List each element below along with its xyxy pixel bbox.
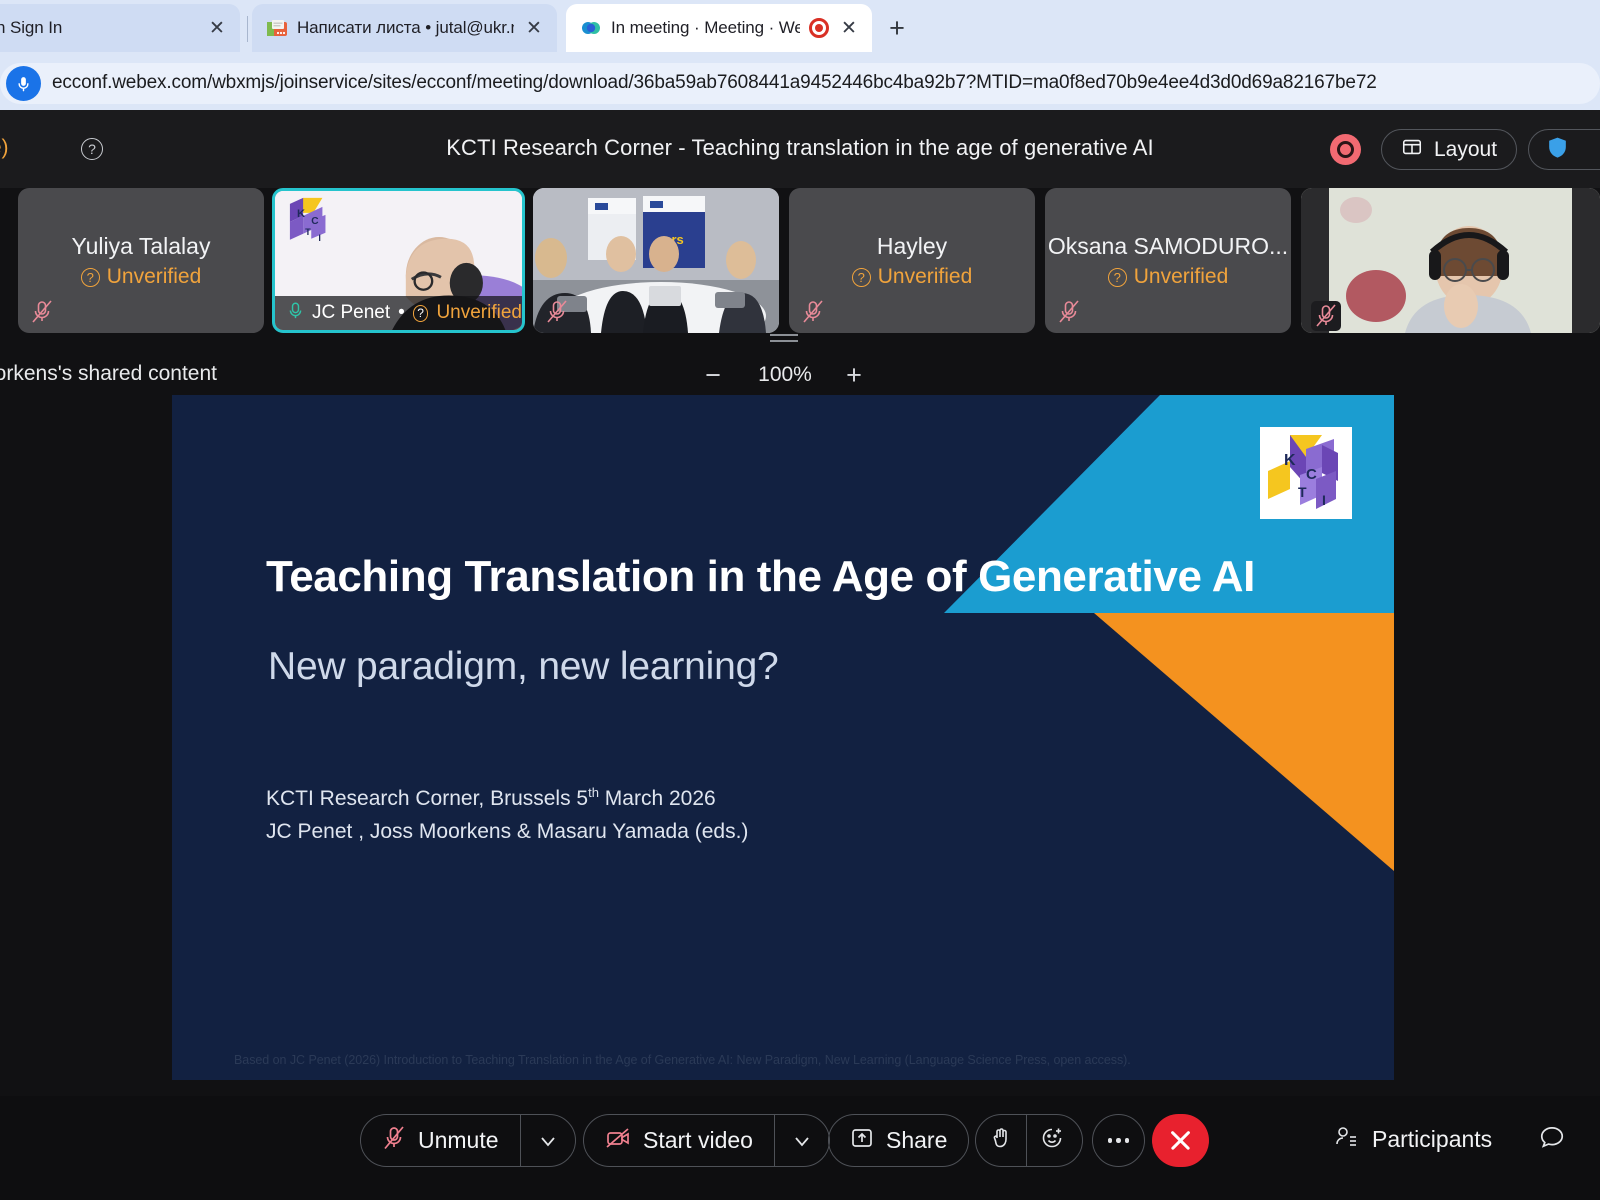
browser-tabstrip: earson Sign In ✕ xyxy=(0,0,1600,56)
status-badge-unverified: ? Unverified xyxy=(1045,265,1291,289)
unverified-label: Unverified xyxy=(878,265,973,289)
microphone-icon[interactable] xyxy=(6,66,41,101)
video-stream: eers xyxy=(533,188,779,333)
leave-meeting-icon xyxy=(1168,1128,1193,1153)
video-tile-hayley[interactable]: Hayley ? Unverified xyxy=(789,188,1035,333)
raise-hand-icon xyxy=(989,1126,1013,1156)
close-icon[interactable]: ✕ xyxy=(838,17,860,39)
browser-tab-webex[interactable]: In meeting · Meeting · Web ✕ xyxy=(566,4,872,52)
overlay-separator: • xyxy=(398,302,405,324)
camera-muted-icon xyxy=(605,1126,631,1156)
address-bar[interactable]: ecconf.webex.com/wbxmjs/joinservice/site… xyxy=(0,63,1600,104)
share-button[interactable]: Share xyxy=(829,1115,968,1166)
svg-text:T: T xyxy=(305,227,311,237)
webex-favicon xyxy=(580,17,602,39)
start-video-button-label: Start video xyxy=(643,1127,753,1154)
recording-indicator-icon[interactable] xyxy=(1330,134,1361,165)
status-badge-unverified: ? Unverified xyxy=(18,265,264,289)
chevron-down-icon xyxy=(790,1129,814,1153)
layout-grid-icon xyxy=(1401,136,1423,164)
microphone-muted-icon xyxy=(382,1125,406,1157)
zoom-out-button[interactable]: − xyxy=(697,359,729,391)
unmute-button[interactable]: Unmute xyxy=(361,1115,520,1166)
unverified-label: Unverified xyxy=(107,265,202,289)
svg-text:K: K xyxy=(1284,452,1296,469)
chat-button[interactable] xyxy=(1538,1124,1566,1156)
new-tab-button[interactable]: + xyxy=(882,13,912,43)
zoom-level-label: 100% xyxy=(745,363,825,387)
meeting-toolbar: Unmute Start video xyxy=(0,1096,1600,1200)
microphone-muted-icon xyxy=(1311,301,1335,327)
tile-participant-name: JC Penet xyxy=(312,302,390,324)
tab-title: Написати листа • jutal@ukr.n xyxy=(297,18,514,38)
reactions-smiley-icon xyxy=(1040,1126,1064,1156)
svg-text:I: I xyxy=(318,233,321,243)
microphone-active-icon xyxy=(287,301,304,326)
shared-slide[interactable]: K C T I Teaching Translation in the Age … xyxy=(172,395,1394,1080)
share-control[interactable]: Share xyxy=(828,1114,969,1167)
unmute-control[interactable]: Unmute xyxy=(360,1114,576,1167)
slide-authors: JC Penet , Joss Moorkens & Masaru Yamada… xyxy=(266,816,1166,849)
ordinal-suffix: th xyxy=(588,785,599,800)
filmstrip-drag-handle[interactable] xyxy=(770,334,798,344)
chevron-down-icon xyxy=(536,1129,560,1153)
leave-meeting-button[interactable] xyxy=(1152,1114,1209,1167)
microphone-muted-icon xyxy=(801,299,825,325)
tab-recording-icon xyxy=(809,18,829,38)
video-options-button[interactable] xyxy=(775,1115,829,1166)
participants-button-label: Participants xyxy=(1372,1126,1492,1153)
share-button-label: Share xyxy=(886,1127,947,1154)
start-video-control[interactable]: Start video xyxy=(583,1114,830,1167)
unverified-label: Unverified xyxy=(1134,265,1229,289)
participants-button[interactable]: Participants xyxy=(1333,1124,1492,1154)
mail-favicon xyxy=(266,17,288,39)
svg-text:C: C xyxy=(1306,466,1317,483)
tab-separator xyxy=(247,16,248,42)
video-tile-conference-room[interactable]: eers xyxy=(533,188,779,333)
question-mark-icon: ? xyxy=(413,305,429,322)
video-stream xyxy=(1301,188,1600,333)
participants-icon xyxy=(1333,1124,1359,1154)
browser-chrome: earson Sign In ✕ xyxy=(0,0,1600,110)
microphone-muted-icon xyxy=(30,299,54,325)
slide-meta: KCTI Research Corner, Brussels 5th March… xyxy=(266,783,1166,848)
browser-tab-pearson[interactable]: earson Sign In ✕ xyxy=(0,4,240,52)
tile-speaker-overlay: JC Penet • ? Unverified xyxy=(275,296,522,330)
question-mark-icon: ? xyxy=(81,268,100,287)
question-mark-icon: ? xyxy=(1108,268,1127,287)
svg-text:I: I xyxy=(1322,492,1326,508)
kcti-logo: K C T I xyxy=(1260,427,1352,519)
slide-event-date: March 2026 xyxy=(599,787,716,810)
url-text: ecconf.webex.com/wbxmjs/joinservice/site… xyxy=(52,72,1377,94)
tile-participant-name: Hayley xyxy=(789,233,1035,260)
microphone-muted-icon xyxy=(545,299,569,325)
close-icon[interactable]: ✕ xyxy=(523,17,545,39)
slide-event-location: KCTI Research Corner, Brussels 5 xyxy=(266,787,588,810)
hand-reactions-control[interactable] xyxy=(975,1114,1083,1167)
unverified-label: Unverified xyxy=(436,302,522,324)
reactions-button[interactable] xyxy=(1027,1115,1077,1166)
video-tile-oksana[interactable]: Oksana SAMODURO... ? Unverified xyxy=(1045,188,1291,333)
security-button[interactable] xyxy=(1528,129,1600,170)
tab-title: earson Sign In xyxy=(0,18,197,38)
microphone-muted-icon xyxy=(1057,299,1081,325)
layout-button-label: Layout xyxy=(1434,138,1497,162)
tile-participant-name: Oksana SAMODURO... xyxy=(1045,233,1291,260)
status-badge-unverified: ? Unverified xyxy=(789,265,1035,289)
share-screen-icon xyxy=(850,1126,874,1156)
shared-content-bar: oorkens's shared content − 100% + xyxy=(0,352,1600,396)
omnibox-row: ecconf.webex.com/wbxmjs/joinservice/site… xyxy=(0,56,1600,110)
browser-tab-mail[interactable]: Написати листа • jutal@ukr.n ✕ xyxy=(252,4,557,52)
unmute-button-label: Unmute xyxy=(418,1127,499,1154)
close-icon[interactable]: ✕ xyxy=(206,17,228,39)
participants-filmstrip: Yuliya Talalay ? Unverified xyxy=(0,188,1600,333)
svg-text:C: C xyxy=(311,216,318,227)
unmute-options-button[interactable] xyxy=(521,1115,575,1166)
slide-title: Teaching Translation in the Age of Gener… xyxy=(266,553,1366,601)
more-options-button[interactable] xyxy=(1092,1114,1145,1167)
start-video-button[interactable]: Start video xyxy=(584,1115,774,1166)
more-options-icon xyxy=(1108,1138,1130,1143)
slide-footer-citation: Based on JC Penet (2026) Introduction to… xyxy=(234,1053,1334,1067)
video-tile-jc-penet[interactable]: K C T I xyxy=(272,188,525,333)
tile-participant-name: Yuliya Talalay xyxy=(18,233,264,260)
security-shield-icon xyxy=(1545,135,1570,165)
video-tile-participant-six[interactable] xyxy=(1301,188,1600,333)
zoom-in-button[interactable]: + xyxy=(838,359,870,391)
layout-button[interactable]: Layout xyxy=(1381,129,1517,170)
question-mark-icon: ? xyxy=(852,268,871,287)
webex-meeting-window: earson Sign In ✕ xyxy=(0,0,1600,1200)
svg-text:K: K xyxy=(297,208,305,220)
raise-hand-button[interactable] xyxy=(976,1115,1026,1166)
video-tile-yuliya[interactable]: Yuliya Talalay ? Unverified xyxy=(18,188,264,333)
chat-bubble-icon xyxy=(1538,1124,1566,1156)
tab-title: In meeting · Meeting · Web xyxy=(611,18,800,38)
slide-meta-line-1: KCTI Research Corner, Brussels 5th March… xyxy=(266,783,1166,816)
shared-content-label: oorkens's shared content xyxy=(0,362,217,386)
slide-subtitle: New paradigm, new learning? xyxy=(268,645,1168,689)
svg-text:T: T xyxy=(1298,484,1307,500)
